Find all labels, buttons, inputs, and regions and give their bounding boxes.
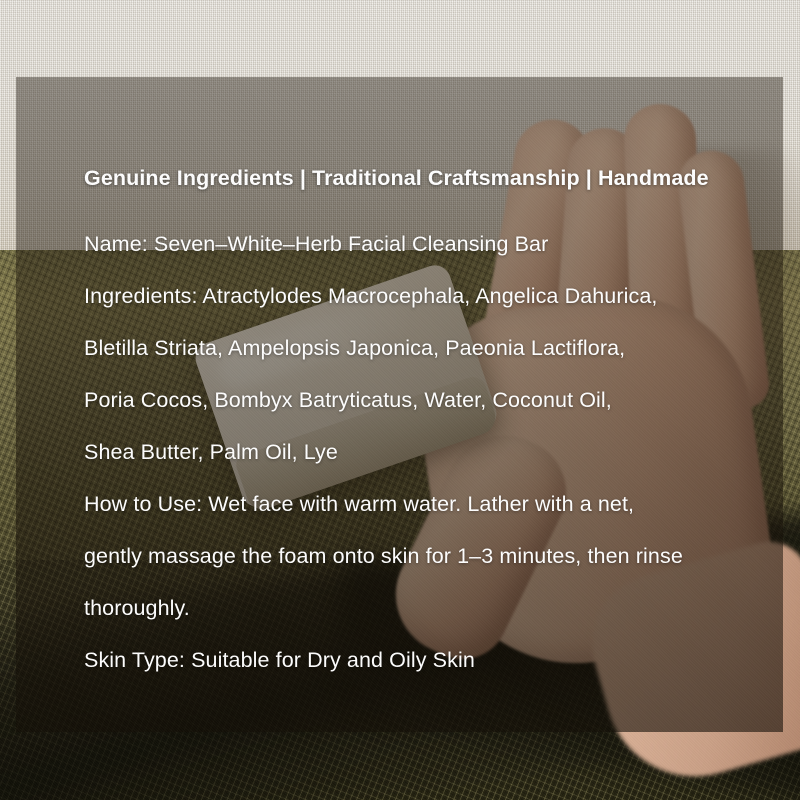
skin-type-line: Skin Type: Suitable for Dry and Oily Ski… [84, 634, 764, 686]
ingredients-line-2: Bletilla Striata, Ampelopsis Japonica, P… [84, 322, 764, 374]
how-to-use-line-2: gently massage the foam onto skin for 1–… [84, 530, 764, 582]
how-to-use-line-1: How to Use: Wet face with warm water. La… [84, 478, 764, 530]
card-headline: Genuine Ingredients | Traditional Crafts… [84, 152, 764, 204]
product-copy-block: Genuine Ingredients | Traditional Crafts… [84, 152, 764, 686]
ingredients-line-1: Ingredients: Atractylodes Macrocephala, … [84, 270, 764, 322]
product-info-card: Genuine Ingredients | Traditional Crafts… [0, 0, 800, 800]
ingredients-line-4: Shea Butter, Palm Oil, Lye [84, 426, 764, 478]
ingredients-line-3: Poria Cocos, Bombyx Batryticatus, Water,… [84, 374, 764, 426]
how-to-use-line-3: thoroughly. [84, 582, 764, 634]
product-name-line: Name: Seven–White–Herb Facial Cleansing … [84, 218, 764, 270]
